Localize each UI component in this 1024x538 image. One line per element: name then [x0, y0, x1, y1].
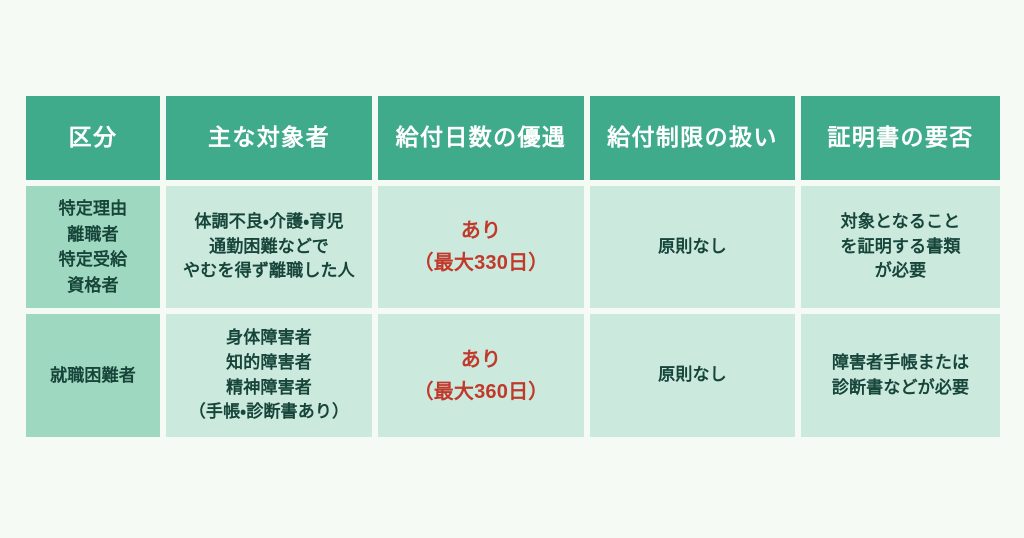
- cell-line: 原則なし: [596, 363, 789, 388]
- cell-line: 通勤困難などで: [172, 235, 366, 260]
- cell-line: 知的障害者: [172, 351, 366, 376]
- cell-target-row2: 身体障害者 知的障害者 精神障害者 （手帳・診断書あり）: [166, 314, 372, 437]
- cell-line: 障害者手帳または: [807, 351, 994, 376]
- table-row: 特定理由 離職者 特定受給 資格者 体調不良・介護・育児 通勤困難などで やむを…: [26, 186, 1000, 308]
- table-row: 就職困難者 身体障害者 知的障害者 精神障害者 （手帳・診断書あり） あり （最…: [26, 314, 1000, 437]
- cell-category-row1: 特定理由 離職者 特定受給 資格者: [26, 186, 160, 308]
- cell-line: （最大330日）: [384, 247, 578, 279]
- page-root: 区分 主な対象者 給付日数の優遇 給付制限の扱い 証明書の要否 特定理由 離職者…: [0, 0, 1024, 538]
- comparison-table-container: 区分 主な対象者 給付日数の優遇 給付制限の扱い 証明書の要否 特定理由 離職者…: [26, 96, 1000, 437]
- column-header-certificate: 証明書の要否: [801, 96, 1000, 180]
- cell-line: 対象となること: [807, 210, 994, 235]
- comparison-table: 区分 主な対象者 給付日数の優遇 給付制限の扱い 証明書の要否 特定理由 離職者…: [20, 90, 1006, 443]
- cell-certificate-row1: 対象となること を証明する書類 が必要: [801, 186, 1000, 308]
- column-header-target: 主な対象者: [166, 96, 372, 180]
- cell-line: 特定受給: [32, 247, 154, 273]
- cell-target-row1: 体調不良・介護・育児 通勤困難などで やむを得ず離職した人: [166, 186, 372, 308]
- cell-line: 特定理由: [32, 196, 154, 222]
- cell-line: 就職困難者: [32, 363, 154, 389]
- cell-line: 資格者: [32, 273, 154, 299]
- cell-line: 診断書などが必要: [807, 376, 994, 401]
- cell-line: 原則なし: [596, 235, 789, 260]
- cell-line: （手帳・診断書あり）: [172, 400, 366, 425]
- cell-restriction-row2: 原則なし: [590, 314, 795, 437]
- cell-line: が必要: [807, 259, 994, 284]
- cell-line: 精神障害者: [172, 376, 366, 401]
- column-header-benefit-days: 給付日数の優遇: [378, 96, 584, 180]
- cell-line: （最大360日）: [384, 376, 578, 408]
- cell-line: を証明する書類: [807, 235, 994, 260]
- cell-benefit-days-row1: あり （最大330日）: [378, 186, 584, 308]
- cell-line: あり: [384, 344, 578, 376]
- cell-line: あり: [384, 215, 578, 247]
- cell-category-row2: 就職困難者: [26, 314, 160, 437]
- cell-benefit-days-row2: あり （最大360日）: [378, 314, 584, 437]
- column-header-restriction: 給付制限の扱い: [590, 96, 795, 180]
- cell-line: 体調不良・介護・育児: [172, 210, 366, 235]
- table-body: 特定理由 離職者 特定受給 資格者 体調不良・介護・育児 通勤困難などで やむを…: [26, 186, 1000, 437]
- cell-certificate-row2: 障害者手帳または 診断書などが必要: [801, 314, 1000, 437]
- table-header-row: 区分 主な対象者 給付日数の優遇 給付制限の扱い 証明書の要否: [26, 96, 1000, 180]
- cell-restriction-row1: 原則なし: [590, 186, 795, 308]
- table-header: 区分 主な対象者 給付日数の優遇 給付制限の扱い 証明書の要否: [26, 96, 1000, 180]
- cell-line: やむを得ず離職した人: [172, 259, 366, 284]
- cell-line: 身体障害者: [172, 326, 366, 351]
- column-header-category: 区分: [26, 96, 160, 180]
- cell-line: 離職者: [32, 222, 154, 248]
